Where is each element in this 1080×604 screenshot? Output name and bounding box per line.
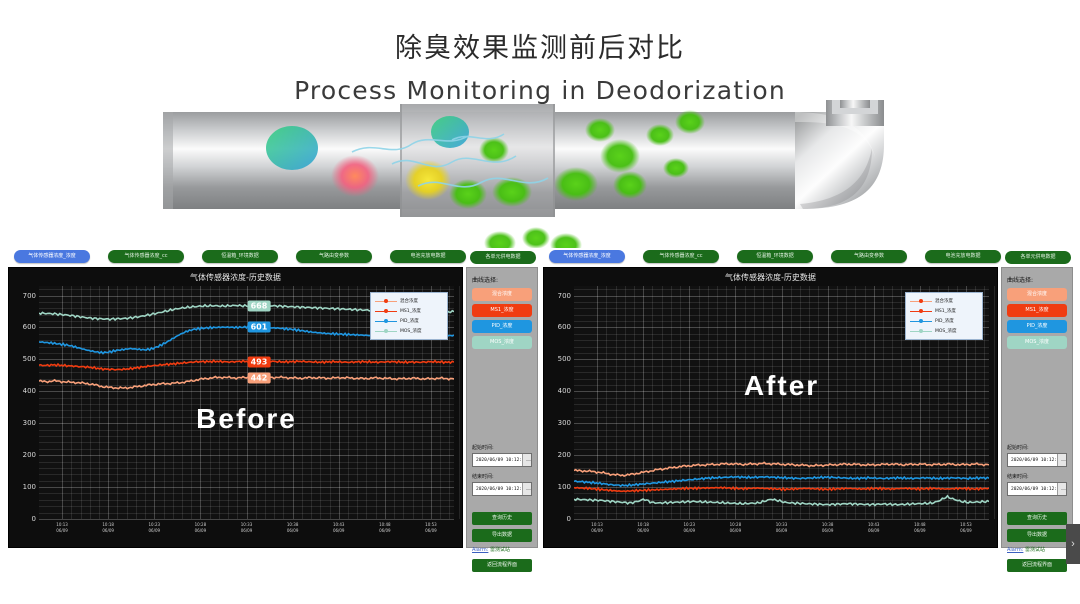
series-line: [574, 462, 989, 476]
gridline: [39, 519, 454, 520]
series-line: [39, 360, 454, 370]
tab-gas-sensor-concentration[interactable]: 气体传感器浓度_浓度: [14, 250, 90, 263]
tab-battery-data[interactable]: 电池充放电数据: [390, 250, 466, 263]
spinner-icon[interactable]: [522, 454, 531, 466]
x-axis-tick-label: 10:4306/09: [333, 522, 345, 534]
curve-button-mos[interactable]: MOS_浓度: [1007, 336, 1067, 349]
tabbar-after: 气体传感器浓度_浓度 气体传感器浓度_cc 恒温箱_环境数据 气路由变参数 电池…: [543, 248, 1073, 267]
x-axis-tick-label: 10:3806/09: [287, 522, 299, 534]
start-time-label: 起始时间:: [472, 444, 537, 451]
legend-after: 混合浓度 MS1_浓度 PID_浓度 MOS_浓度: [905, 292, 983, 340]
tab-unit-power-data[interactable]: 各单元供电数据: [1005, 251, 1071, 264]
chart-title-before: 气体传感器浓度-历史数据: [9, 272, 462, 283]
x-axis-tick-label: 10:4806/09: [914, 522, 926, 534]
x-axis-tick-label: 10:1806/09: [102, 522, 114, 534]
tabbar-before: 气体传感器浓度_浓度 气体传感器浓度_cc 恒温箱_环境数据 气路由变参数 电池…: [8, 248, 538, 267]
alarm-link-row[interactable]: Alarm: 雷测试站: [472, 546, 537, 553]
data-point-label: 668: [248, 300, 271, 311]
chart-before: 气体传感器浓度-历史数据 混合浓度 MS1_浓度 PID_浓度 MOS_浓度 B…: [8, 267, 463, 548]
series-line: [574, 496, 989, 506]
legend-swatch: [910, 331, 932, 332]
x-axis-tick-label: 10:2806/09: [730, 522, 742, 534]
sidecol-before: 各单元供电数据 曲线选择: 混合浓度 MS1_浓度 PID_浓度 MOS_浓度 …: [466, 267, 538, 548]
data-point-label: 601: [248, 322, 271, 333]
start-time-input[interactable]: 2020/06/09 10:12:29: [1007, 453, 1067, 467]
curve-button-ms1[interactable]: MS1_浓度: [1007, 304, 1067, 317]
curve-button-mixed[interactable]: 混合浓度: [1007, 288, 1067, 301]
tab-gas-path-params[interactable]: 气路由变参数: [296, 250, 372, 263]
y-axis-tick-label: 200: [23, 451, 36, 459]
y-axis-tick-label: 700: [558, 292, 571, 300]
tab-gas-sensor-cc[interactable]: 气体传感器浓度_cc: [108, 250, 184, 263]
return-to-process-button[interactable]: 返回流程界面: [1007, 559, 1067, 572]
tab-thermostat-env[interactable]: 恒温箱_环境数据: [737, 250, 813, 263]
data-point-label: 493: [248, 356, 271, 367]
export-data-button[interactable]: 导出数据: [472, 529, 532, 542]
legend-swatch: [910, 311, 932, 312]
y-axis-tick-label: 100: [558, 483, 571, 491]
series-line: [39, 376, 454, 388]
x-axis-tick-label: 10:3306/09: [241, 522, 253, 534]
x-axis-tick-label: 10:2306/09: [684, 522, 696, 534]
spinner-icon[interactable]: [1057, 454, 1066, 466]
legend-item: MOS_浓度: [908, 326, 980, 336]
legend-before: 混合浓度 MS1_浓度 PID_浓度 MOS_浓度: [370, 292, 448, 340]
legend-item: MS1_浓度: [908, 306, 980, 316]
return-to-process-button[interactable]: 返回流程界面: [472, 559, 532, 572]
gridline: [574, 519, 989, 520]
panel-before: 气体传感器浓度_浓度 气体传感器浓度_cc 恒温箱_环境数据 气路由变参数 电池…: [8, 248, 538, 548]
y-axis-tick-label: 300: [558, 419, 571, 427]
y-axis-tick-label: 300: [23, 419, 36, 427]
x-axis-tick-label: 10:2306/09: [149, 522, 161, 534]
x-axis-tick-label: 10:1306/09: [56, 522, 68, 534]
end-time-label: 结束时间:: [472, 473, 537, 480]
y-axis-tick-label: 0: [32, 515, 36, 523]
tab-battery-data[interactable]: 电池充放电数据: [925, 250, 1001, 263]
y-axis-tick-label: 400: [23, 387, 36, 395]
x-axis-tick-label: 10:1306/09: [591, 522, 603, 534]
series-line: [574, 487, 989, 492]
curve-select-label: 曲线选择:: [472, 275, 537, 284]
legend-item: MS1_浓度: [373, 306, 445, 316]
sidecol-after: 各单元供电数据 曲线选择: 混合浓度 MS1_浓度 PID_浓度 MOS_浓度 …: [1001, 267, 1073, 548]
legend-item: 混合浓度: [908, 296, 980, 306]
legend-swatch: [910, 301, 932, 302]
page-header: 除臭效果监测前后对比 Process Monitoring in Deodori…: [0, 0, 1080, 248]
chart-title-after: 气体传感器浓度-历史数据: [544, 272, 997, 283]
alarm-link-prefix[interactable]: Alarm:: [1007, 547, 1023, 553]
alarm-link-text[interactable]: 雷测试站: [490, 547, 510, 553]
curve-button-mixed[interactable]: 混合浓度: [472, 288, 532, 301]
dashboard: 气体传感器浓度_浓度 气体传感器浓度_cc 恒温箱_环境数据 气路由变参数 电池…: [0, 248, 1080, 604]
legend-item: PID_浓度: [908, 316, 980, 326]
x-axis-tick-label: 10:4806/09: [379, 522, 391, 534]
curve-button-pid[interactable]: PID_浓度: [472, 320, 532, 333]
y-axis-tick-label: 600: [558, 323, 571, 331]
tab-gas-path-params[interactable]: 气路由变参数: [831, 250, 907, 263]
end-time-input[interactable]: 2020/06/09 10:12:29: [472, 482, 532, 496]
end-time-value: 2020/06/09 10:12:29: [473, 487, 527, 492]
x-axis-tick-label: 10:3306/09: [776, 522, 788, 534]
legend-swatch: [375, 311, 397, 312]
y-axis-tick-label: 0: [567, 515, 571, 523]
pipe-illustration: [0, 100, 1080, 248]
curve-button-ms1[interactable]: MS1_浓度: [472, 304, 532, 317]
y-axis-tick-label: 100: [23, 483, 36, 491]
gridline-minor: [459, 286, 460, 519]
legend-swatch: [375, 321, 397, 322]
alarm-link-text[interactable]: 雷测试站: [1025, 547, 1045, 553]
curve-select-label: 曲线选择:: [1007, 275, 1072, 284]
plot-area-before: 混合浓度 MS1_浓度 PID_浓度 MOS_浓度 Before 0100200…: [39, 286, 454, 519]
legend-swatch: [375, 301, 397, 302]
x-axis-tick-label: 10:4306/09: [868, 522, 880, 534]
y-axis-tick-label: 500: [558, 355, 571, 363]
spinner-icon[interactable]: [1057, 483, 1066, 495]
y-axis-tick-label: 600: [23, 323, 36, 331]
x-axis-tick-label: 10:3806/09: [822, 522, 834, 534]
chevron-right-icon[interactable]: ›: [1066, 524, 1080, 564]
plot-area-after: 混合浓度 MS1_浓度 PID_浓度 MOS_浓度 After 01002003…: [574, 286, 989, 519]
chart-after: 气体传感器浓度-历史数据 混合浓度 MS1_浓度 PID_浓度 MOS_浓度 A…: [543, 267, 998, 548]
y-axis-tick-label: 200: [558, 451, 571, 459]
series-line: [574, 476, 989, 486]
y-axis-tick-label: 400: [558, 387, 571, 395]
curve-button-mos[interactable]: MOS_浓度: [472, 336, 532, 349]
query-history-button[interactable]: 查询历史: [472, 512, 532, 525]
x-axis-tick-label: 10:5306/09: [960, 522, 972, 534]
tab-unit-power-data[interactable]: 各单元供电数据: [470, 251, 536, 264]
end-time-input[interactable]: 2020/06/09 10:12:29: [1007, 482, 1067, 496]
end-time-label: 结束时间:: [1007, 473, 1072, 480]
start-time-value: 2020/06/09 10:12:29: [473, 458, 527, 463]
x-axis-tick-label: 10:1806/09: [637, 522, 649, 534]
spinner-icon[interactable]: [522, 483, 531, 495]
watermark-after: After: [744, 370, 819, 402]
alarm-link-row[interactable]: Alarm: 雷测试站: [1007, 546, 1072, 553]
tab-gas-sensor-concentration[interactable]: 气体传感器浓度_浓度: [549, 250, 625, 263]
y-axis-tick-label: 700: [23, 292, 36, 300]
x-axis-tick-label: 10:5306/09: [425, 522, 437, 534]
curve-button-pid[interactable]: PID_浓度: [1007, 320, 1067, 333]
alarm-link-prefix[interactable]: Alarm:: [472, 547, 488, 553]
data-point-label: 442: [248, 372, 271, 383]
start-time-value: 2020/06/09 10:12:29: [1008, 458, 1062, 463]
legend-swatch: [910, 321, 932, 322]
legend-item: PID_浓度: [373, 316, 445, 326]
query-history-button[interactable]: 查询历史: [1007, 512, 1067, 525]
x-axis-tick-label: 10:2806/09: [195, 522, 207, 534]
panel-after: 气体传感器浓度_浓度 气体传感器浓度_cc 恒温箱_环境数据 气路由变参数 电池…: [543, 248, 1073, 548]
y-axis-tick-label: 500: [23, 355, 36, 363]
legend-item: MOS_浓度: [373, 326, 445, 336]
end-time-value: 2020/06/09 10:12:29: [1008, 487, 1062, 492]
legend-item: 混合浓度: [373, 296, 445, 306]
start-time-input[interactable]: 2020/06/09 10:12:29: [472, 453, 532, 467]
tab-thermostat-env[interactable]: 恒温箱_环境数据: [202, 250, 278, 263]
page-title-zh: 除臭效果监测前后对比: [0, 26, 1080, 65]
tab-gas-sensor-cc[interactable]: 气体传感器浓度_cc: [643, 250, 719, 263]
export-data-button[interactable]: 导出数据: [1007, 529, 1067, 542]
legend-swatch: [375, 331, 397, 332]
start-time-label: 起始时间:: [1007, 444, 1072, 451]
gridline-minor: [994, 286, 995, 519]
watermark-before: Before: [196, 403, 297, 435]
